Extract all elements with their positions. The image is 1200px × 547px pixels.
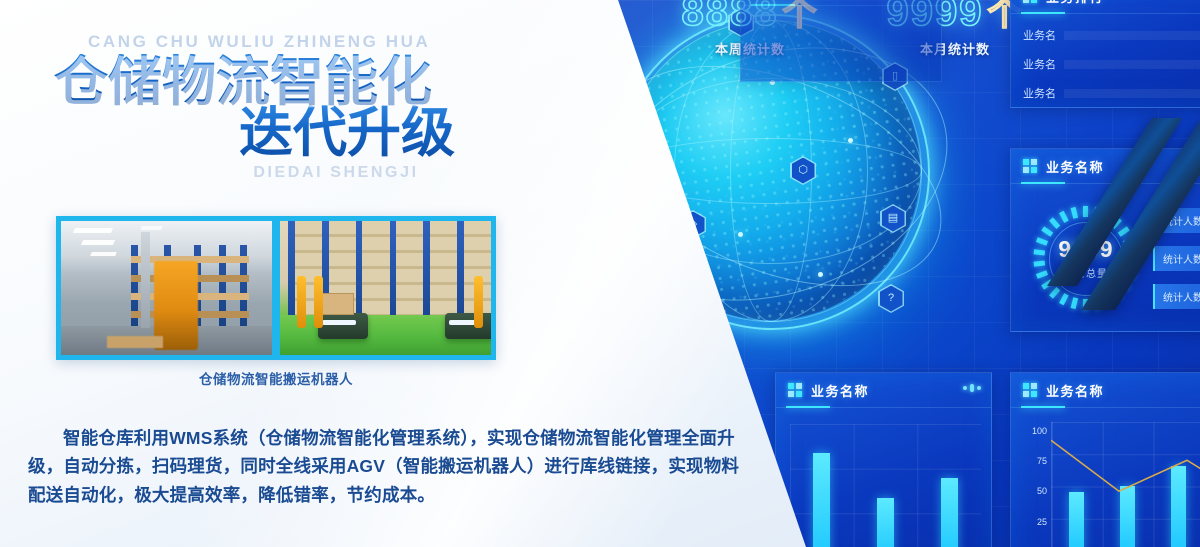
y-tick-label: 25 xyxy=(1037,517,1047,527)
ranking-list: 业务名 业务名 业务名 xyxy=(1011,14,1200,101)
ranking-row[interactable]: 业务名 xyxy=(1023,85,1200,101)
pinyin-top: CANG CHU WULIU ZHINENG HUA xyxy=(52,32,572,52)
combo-chart-y-axis: 255075100 xyxy=(1017,416,1047,547)
chart-bar xyxy=(941,478,958,547)
panel-top-left[interactable]: 业务名称 xyxy=(740,0,942,82)
body-paragraph: 智能仓库利用WMS系统（仓储物流智能化管理系统），实现仓储物流智能化管理全面升级… xyxy=(28,424,746,509)
panel-combo-chart[interactable]: 业务名称 255075100 1234 xyxy=(1010,372,1200,547)
photo-caption: 仓储物流智能搬运机器人 xyxy=(56,368,496,388)
panel-combo-title: 业务名称 xyxy=(1046,381,1104,400)
globe-node-dot xyxy=(818,272,823,277)
ranking-row[interactable]: 业务名 xyxy=(1023,27,1200,43)
gauge-tick xyxy=(1059,211,1069,223)
gauge-tick xyxy=(1059,293,1069,305)
panel-decor-dots xyxy=(963,384,981,392)
y-tick-label: 75 xyxy=(1037,456,1047,466)
gauge-tick xyxy=(1049,287,1060,299)
panel-business-ranking[interactable]: 业务排行 业务名 业务名 业务名 xyxy=(1010,0,1200,108)
panel-gauge-title: 业务名称 xyxy=(1046,157,1104,176)
stat-chip[interactable]: 统计人数 xyxy=(1153,246,1200,271)
ranking-row[interactable]: 业务名 xyxy=(1023,56,1200,72)
photo-frame xyxy=(56,216,496,360)
panel-left-chart-title: 业务名称 xyxy=(811,381,869,400)
gauge-tick xyxy=(1035,270,1047,279)
agv-robot-photo xyxy=(280,221,491,355)
y-tick-label: 100 xyxy=(1032,426,1047,436)
page-title-line2: 迭代升级 xyxy=(52,105,572,160)
ranking-row-label: 业务名 xyxy=(1023,85,1056,101)
left-chart-bars xyxy=(790,424,981,547)
stat-chip[interactable]: 统计人数 xyxy=(1153,284,1200,309)
pinyin-bottom: DIEDAI SHENGJI xyxy=(52,164,572,182)
gauge-tick xyxy=(1070,207,1077,219)
grid-squares-icon xyxy=(788,383,802,397)
gauge-tick xyxy=(1033,249,1045,255)
poster-canvas: ⌖ ▯ ⬡ ▤ ? ◈ 8888个 本周统计数 9999个 本月统计数 xyxy=(0,0,1200,547)
combo-chart-line xyxy=(1051,422,1200,547)
grid-squares-icon xyxy=(1023,383,1037,397)
warehouse-forklift-photo xyxy=(61,221,272,355)
ranking-row-track xyxy=(1064,60,1200,69)
ranking-row-label: 业务名 xyxy=(1023,27,1056,43)
gauge-tick xyxy=(1070,297,1077,309)
ranking-row-track xyxy=(1064,31,1200,40)
panel-left-chart[interactable]: 业务名称 xyxy=(775,372,992,547)
chart-bar xyxy=(813,453,830,547)
gauge-tick xyxy=(1041,226,1053,236)
globe-node-dot xyxy=(848,138,853,143)
grid-squares-icon xyxy=(1023,0,1037,3)
gauge-tick xyxy=(1035,237,1047,246)
gauge-tick xyxy=(1049,217,1060,229)
gauge-tick xyxy=(1033,260,1045,266)
headline-block: CANG CHU WULIU ZHINENG HUA 仓储物流智能化 迭代升级 … xyxy=(52,32,572,182)
ranking-row-label: 业务名 xyxy=(1023,56,1056,72)
ranking-row-track xyxy=(1064,89,1200,98)
globe-node-dot xyxy=(738,232,743,237)
y-tick-label: 50 xyxy=(1037,486,1047,496)
panel-ranking-title: 业务排行 xyxy=(1046,0,1104,6)
grid-squares-icon xyxy=(1023,159,1037,173)
chart-bar xyxy=(877,498,894,547)
gauge-tick xyxy=(1083,206,1088,217)
